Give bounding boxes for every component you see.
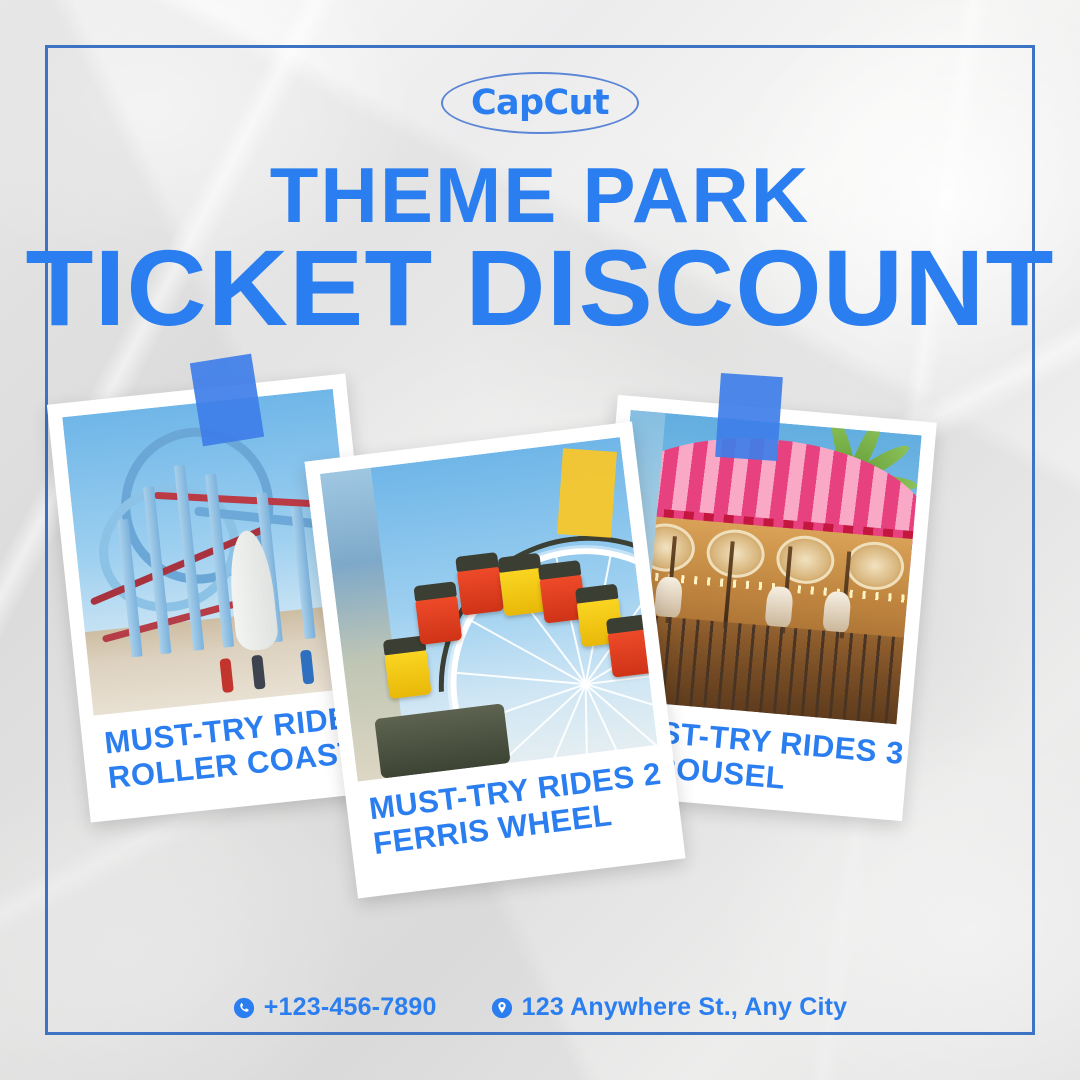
tape-blue-card-3: [715, 373, 783, 461]
address-text: 123 Anywhere St., Any City: [522, 993, 848, 1022]
contact-address[interactable]: 123 Anywhere St., Any City: [491, 993, 848, 1022]
location-pin-icon: [491, 997, 513, 1019]
phone-icon: [233, 997, 255, 1019]
poster-canvas: CapCut THEME PARK TICKET DISCOUNT: [0, 0, 1080, 1080]
page-title: THEME PARK TICKET DISCOUNT: [0, 158, 1080, 339]
phone-number-text: +123-456-7890: [264, 993, 437, 1022]
brand-logo: CapCut: [441, 72, 639, 134]
contact-phone[interactable]: +123-456-7890: [233, 993, 437, 1022]
footer-contact-bar: +123-456-7890 123 Anywhere St., Any City: [0, 993, 1080, 1022]
brand-logo-text: CapCut: [471, 83, 609, 123]
headline-line-1: THEME PARK: [0, 158, 1080, 233]
tape-blue-card-1: [190, 354, 264, 447]
headline-line-2: TICKET DISCOUNT: [0, 237, 1080, 340]
tape-yellow-card-2: [557, 448, 617, 538]
ride-card-ferris-wheel[interactable]: MUST-TRY RIDES 2 FERRIS WHEEL: [304, 422, 685, 899]
